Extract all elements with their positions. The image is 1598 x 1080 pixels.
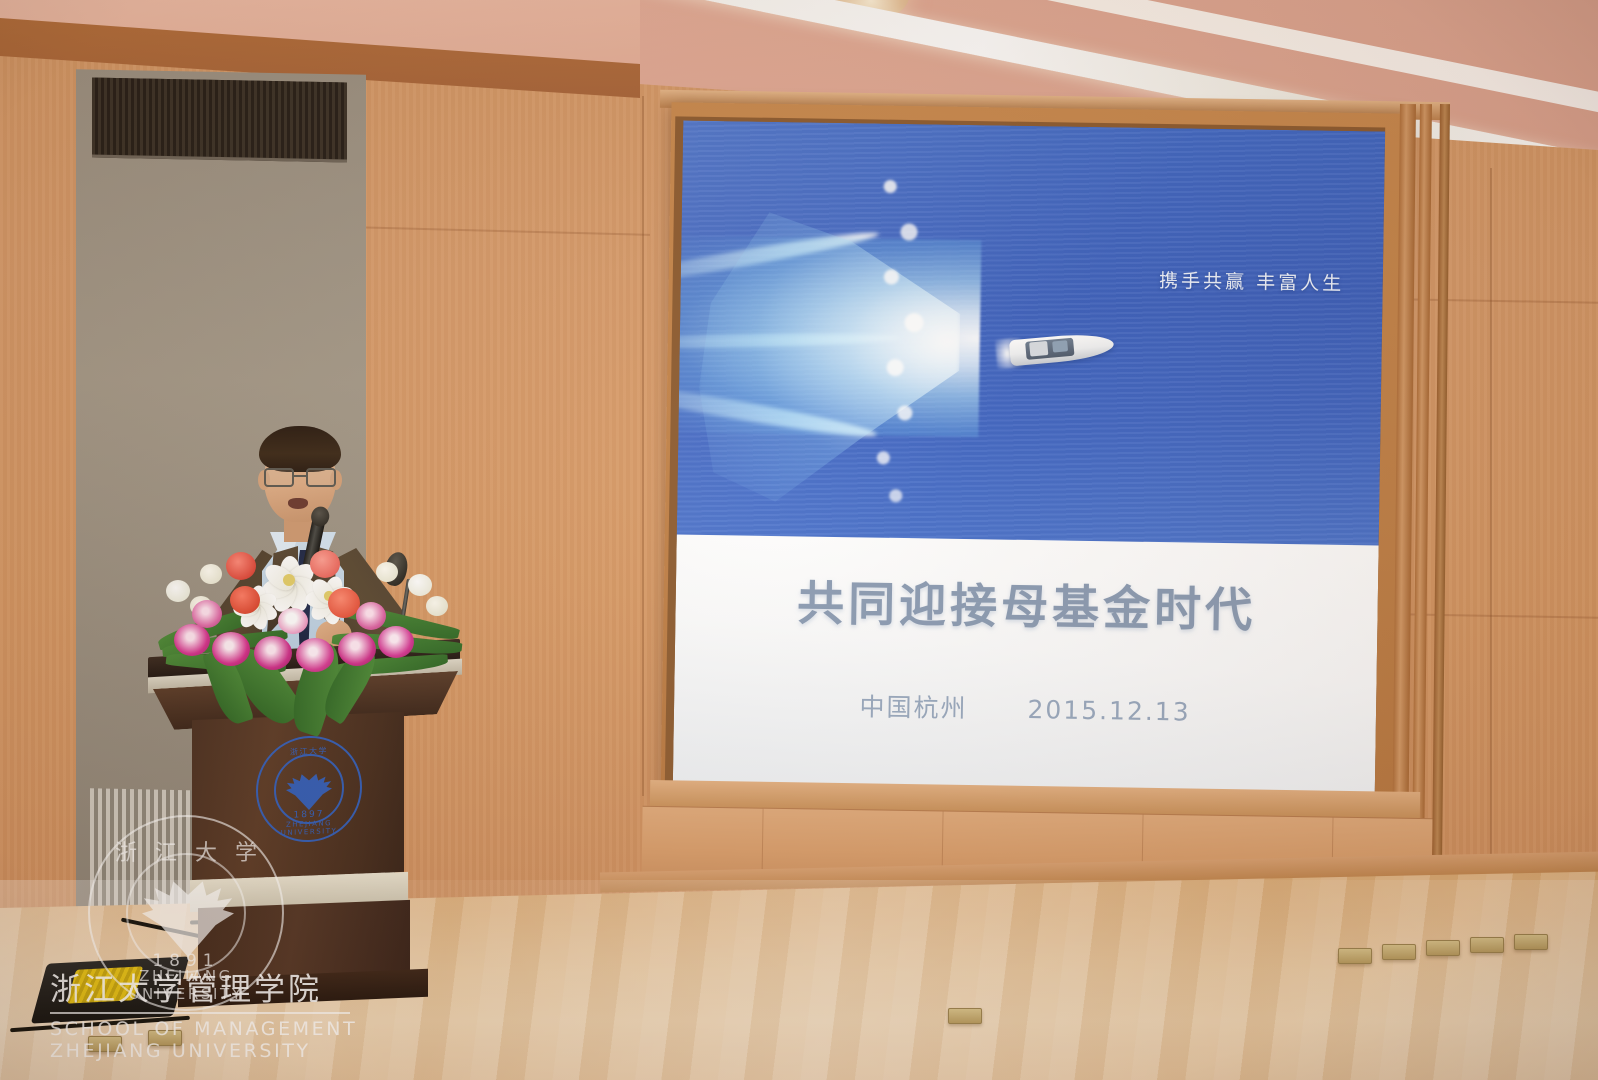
projection-screen[interactable]: 携手共赢 丰富人生 共同迎接母基金时代 中国杭州2015.12.13 <box>673 121 1385 796</box>
flower-orchid <box>254 636 292 670</box>
flower-orchid <box>278 608 308 634</box>
flower-white <box>376 562 398 582</box>
hair <box>259 426 341 472</box>
floor-outlet-cover <box>1470 937 1504 953</box>
flower-white <box>426 596 448 616</box>
flower-orchid <box>378 626 414 658</box>
auditorium-photo: 携手共赢 丰富人生 共同迎接母基金时代 中国杭州2015.12.13 <box>0 0 1598 1080</box>
flower-orchid <box>212 632 250 666</box>
hvac-grille-icon <box>92 78 347 163</box>
slide-tagline: 携手共赢 丰富人生 <box>1159 266 1344 296</box>
lens-left <box>264 468 294 487</box>
flower-orchid <box>174 624 210 656</box>
flower-orchid <box>356 602 386 630</box>
flower-orchid <box>338 632 376 666</box>
boat-window <box>1052 340 1068 352</box>
floor-outlet-cover <box>1426 940 1460 956</box>
lily-center <box>283 574 295 586</box>
flower-rose <box>230 586 260 614</box>
emblem-bottom-text: ZHEJIANG UNIVERSITY <box>256 818 362 838</box>
floor-outlet-cover <box>1338 948 1372 964</box>
floor-outlet-cover <box>948 1008 982 1024</box>
flower-rose <box>226 552 256 580</box>
slide-hero-photo: 携手共赢 丰富人生 <box>677 121 1385 550</box>
flower-orchid <box>296 638 334 672</box>
slide-meta-gap <box>967 717 1027 718</box>
cable-ramp-yellow-cover <box>67 966 143 1003</box>
slide-location: 中国杭州 <box>859 693 967 724</box>
floor-outlet-cover <box>88 1036 122 1052</box>
floor-outlet-cover <box>1514 934 1548 950</box>
floral-arrangement <box>160 540 460 730</box>
glasses-bridge <box>294 475 308 477</box>
boat-cabin <box>1029 341 1048 357</box>
flower-white <box>166 580 190 602</box>
wall-seam <box>1490 168 1492 868</box>
flower-white <box>408 574 432 596</box>
flower-white <box>200 564 222 584</box>
mouth <box>288 498 308 509</box>
flower-rose <box>310 550 340 578</box>
slide-date: 2015.12.13 <box>1027 695 1191 727</box>
wake-foam-edge <box>807 147 943 526</box>
eyeglasses-icon <box>262 468 340 488</box>
podium-university-emblem: 浙江大学 1897 ZHEJIANG UNIVERSITY <box>256 734 362 844</box>
wall-seam <box>642 96 644 796</box>
floor-outlet-cover <box>1382 944 1416 960</box>
lens-right <box>306 468 336 487</box>
flower-orchid <box>192 600 222 628</box>
slide-title: 共同迎接母基金时代 <box>675 562 1378 642</box>
floor-outlet-cover <box>148 1030 182 1046</box>
